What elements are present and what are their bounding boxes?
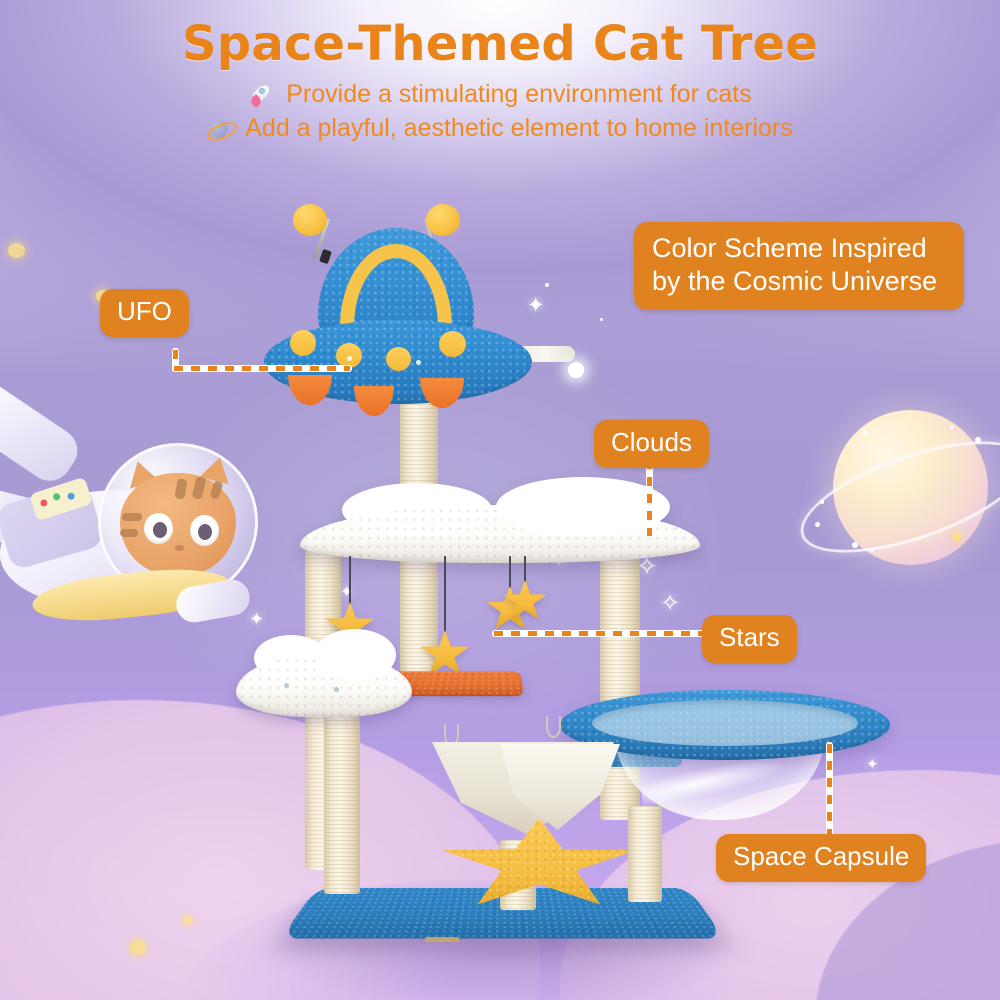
ufo-glow-dot bbox=[568, 362, 584, 378]
ufo-antenna-base-left bbox=[319, 249, 332, 264]
ufo-leg-left bbox=[288, 375, 332, 405]
cloud-rivet bbox=[334, 687, 339, 692]
connector-ufo-horizontal bbox=[172, 365, 352, 372]
callout-color-scheme[interactable]: Color Scheme Inspired by the Cosmic Univ… bbox=[634, 222, 964, 310]
ufo-rivet bbox=[416, 360, 421, 365]
hammock-hook-right bbox=[546, 716, 561, 738]
ufo-leg-right bbox=[420, 378, 464, 408]
base-brand-label bbox=[425, 937, 459, 942]
hanging-star-toy-4 bbox=[503, 580, 547, 622]
ufo-light-dot bbox=[439, 331, 466, 357]
ufo-leg-center bbox=[354, 386, 394, 416]
toy-string bbox=[444, 556, 446, 638]
ufo-light-dot bbox=[386, 347, 411, 371]
connector-capsule-vertical bbox=[826, 742, 833, 844]
callout-clouds[interactable]: Clouds bbox=[594, 420, 709, 468]
callout-color-scheme-line2: by the Cosmic Universe bbox=[652, 265, 946, 298]
callout-color-scheme-line1: Color Scheme Inspired bbox=[652, 232, 946, 265]
cloud-rivet bbox=[284, 683, 289, 688]
connector-stars-horizontal bbox=[492, 630, 714, 637]
callout-space-capsule[interactable]: Space Capsule bbox=[716, 834, 926, 882]
cloud-platform-side bbox=[236, 655, 412, 717]
infographic-canvas: ✦ ✧ ✦ ✦ ✧ ✦ ✦ ✦ Space-Themed Cat Tree Pr… bbox=[0, 0, 1000, 1000]
scratching-post-cloud bbox=[324, 712, 360, 894]
ufo-pompom-left bbox=[293, 204, 327, 236]
ufo-light-dot bbox=[290, 330, 316, 356]
ufo-topper bbox=[258, 200, 558, 420]
ufo-rivet bbox=[347, 356, 352, 361]
connector-clouds-vertical bbox=[646, 458, 653, 538]
scratching-post-front-right bbox=[628, 806, 662, 902]
space-capsule-opening bbox=[592, 700, 858, 746]
cloud-platform-top bbox=[300, 505, 700, 563]
callout-ufo[interactable]: UFO bbox=[100, 289, 189, 337]
ufo-pompom-right bbox=[426, 204, 460, 236]
callout-stars[interactable]: Stars bbox=[702, 615, 797, 663]
